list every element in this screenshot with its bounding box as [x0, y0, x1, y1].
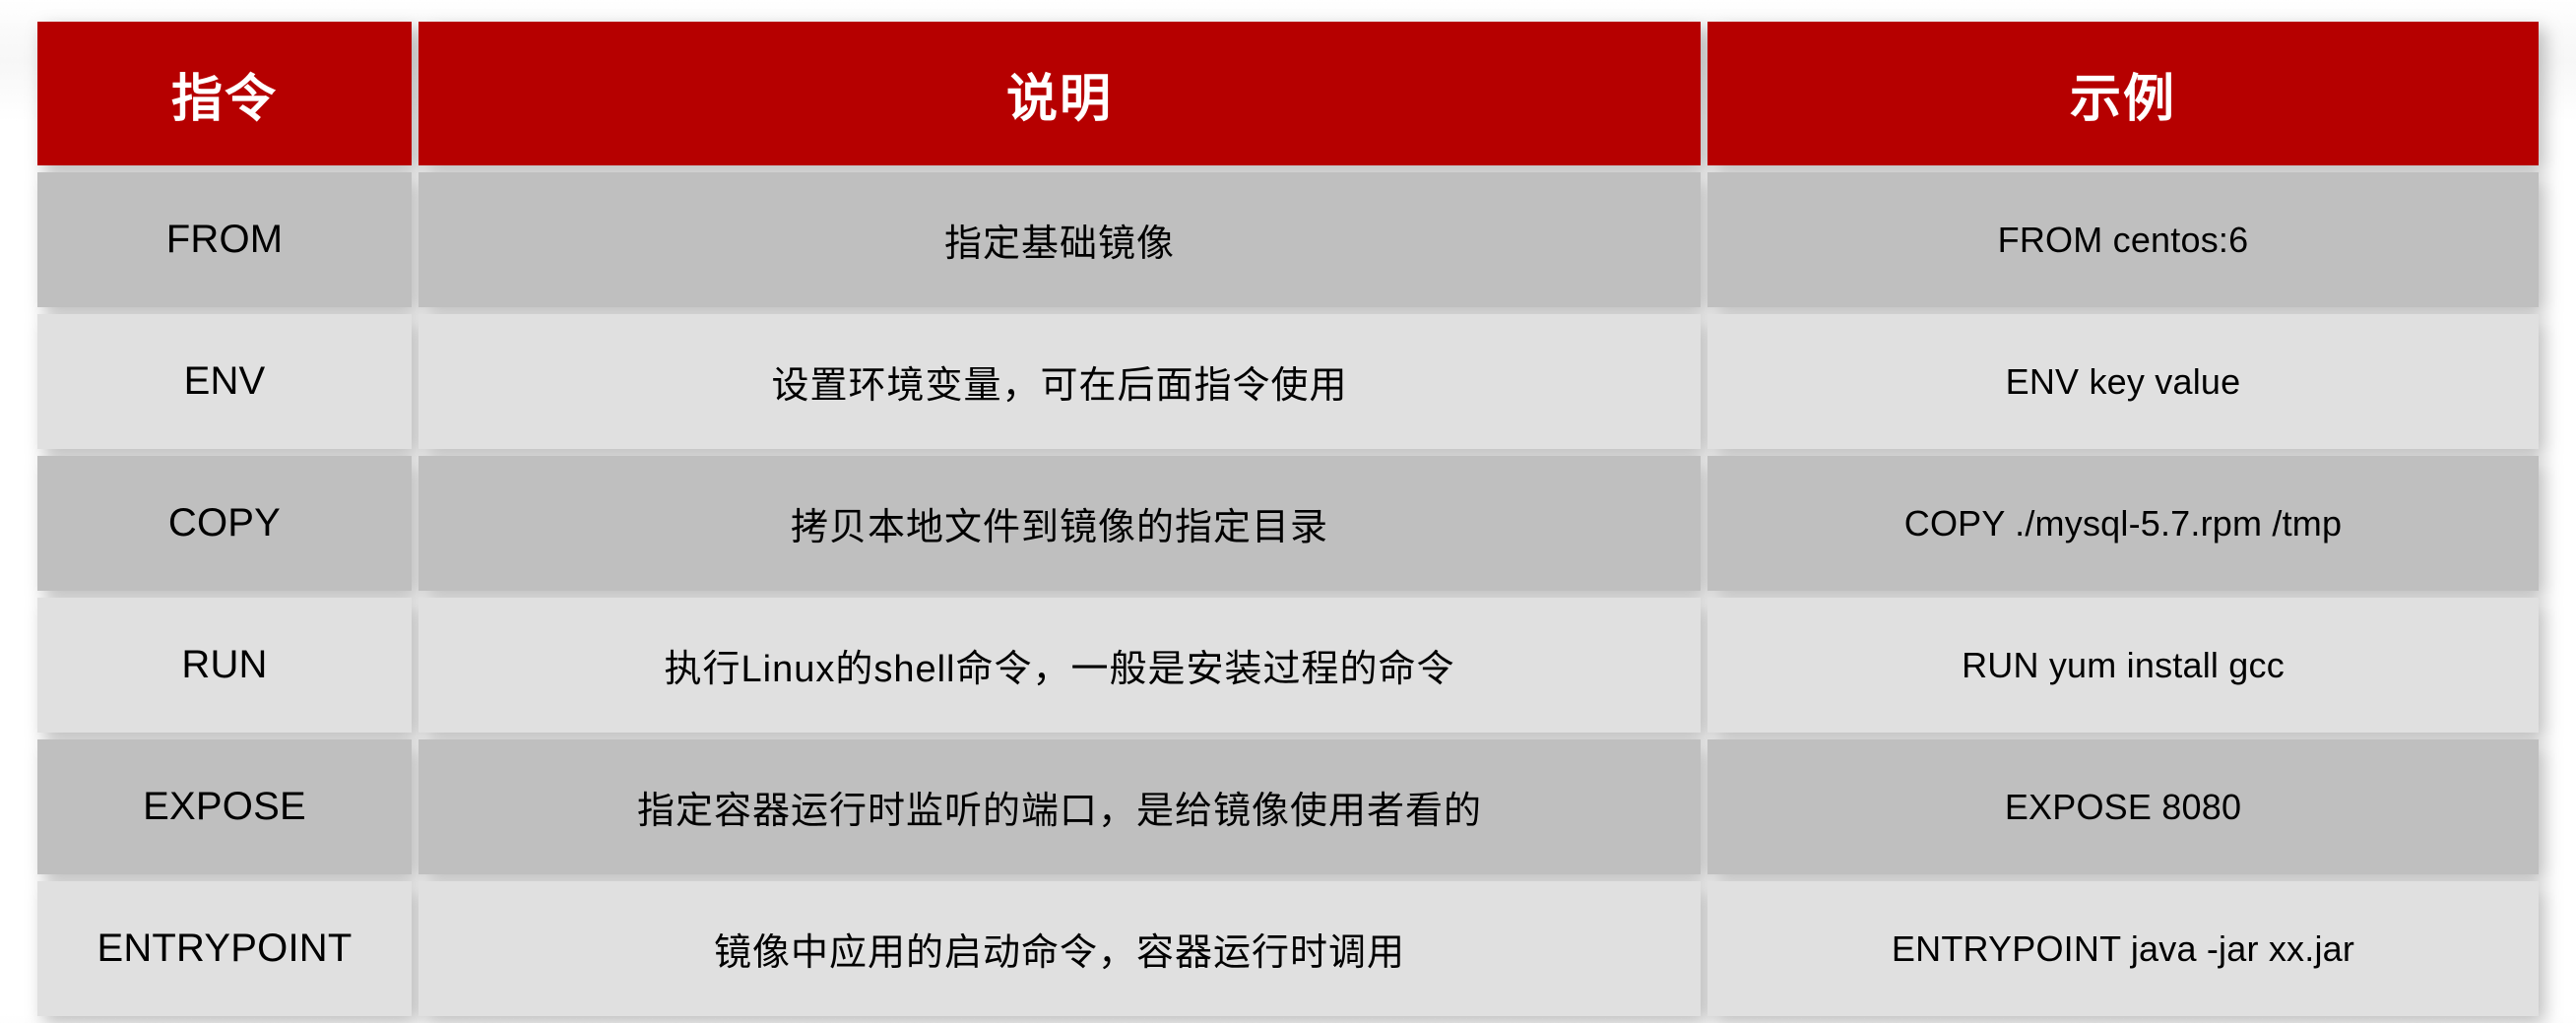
cell-description: 镜像中应用的启动命令，容器运行时调用 [419, 881, 1701, 1016]
cell-command: ENTRYPOINT [37, 881, 412, 1016]
cell-command: COPY [37, 456, 412, 591]
cell-command: EXPOSE [37, 739, 412, 874]
cell-example: ENTRYPOINT java -jar xx.jar [1707, 881, 2539, 1016]
table-header: 指令 说明 示例 [37, 22, 2539, 165]
cell-description: 指定容器运行时监听的端口，是给镜像使用者看的 [419, 739, 1701, 874]
table-row: FROM 指定基础镜像 FROM centos:6 [37, 172, 2539, 307]
cell-command: RUN [37, 598, 412, 733]
cell-description: 设置环境变量，可在后面指令使用 [419, 314, 1701, 449]
cell-description: 执行Linux的shell命令，一般是安装过程的命令 [419, 598, 1701, 733]
cell-example: FROM centos:6 [1707, 172, 2539, 307]
cell-description: 指定基础镜像 [419, 172, 1701, 307]
table-row: EXPOSE 指定容器运行时监听的端口，是给镜像使用者看的 EXPOSE 808… [37, 739, 2539, 874]
table-row: RUN 执行Linux的shell命令，一般是安装过程的命令 RUN yum i… [37, 598, 2539, 733]
column-header-description: 说明 [419, 22, 1701, 165]
dockerfile-instruction-table-container: 指令 说明 示例 FROM 指定基础镜像 FROM centos:6 ENV 设… [37, 22, 2539, 975]
table-row: ENTRYPOINT 镜像中应用的启动命令，容器运行时调用 ENTRYPOINT… [37, 881, 2539, 1016]
cell-description: 拷贝本地文件到镜像的指定目录 [419, 456, 1701, 591]
table-row: COPY 拷贝本地文件到镜像的指定目录 COPY ./mysql-5.7.rpm… [37, 456, 2539, 591]
column-header-command: 指令 [37, 22, 412, 165]
cell-command: FROM [37, 172, 412, 307]
table-header-row: 指令 说明 示例 [37, 22, 2539, 165]
slide-canvas: 指令 说明 示例 FROM 指定基础镜像 FROM centos:6 ENV 设… [0, 0, 2576, 1014]
cell-example: EXPOSE 8080 [1707, 739, 2539, 874]
cell-command: ENV [37, 314, 412, 449]
table-body: FROM 指定基础镜像 FROM centos:6 ENV 设置环境变量，可在后… [37, 172, 2539, 1016]
table-row: ENV 设置环境变量，可在后面指令使用 ENV key value [37, 314, 2539, 449]
column-header-example: 示例 [1707, 22, 2539, 165]
cell-example: RUN yum install gcc [1707, 598, 2539, 733]
cell-example: ENV key value [1707, 314, 2539, 449]
dockerfile-instruction-table: 指令 说明 示例 FROM 指定基础镜像 FROM centos:6 ENV 设… [31, 15, 2545, 1023]
cell-example: COPY ./mysql-5.7.rpm /tmp [1707, 456, 2539, 591]
